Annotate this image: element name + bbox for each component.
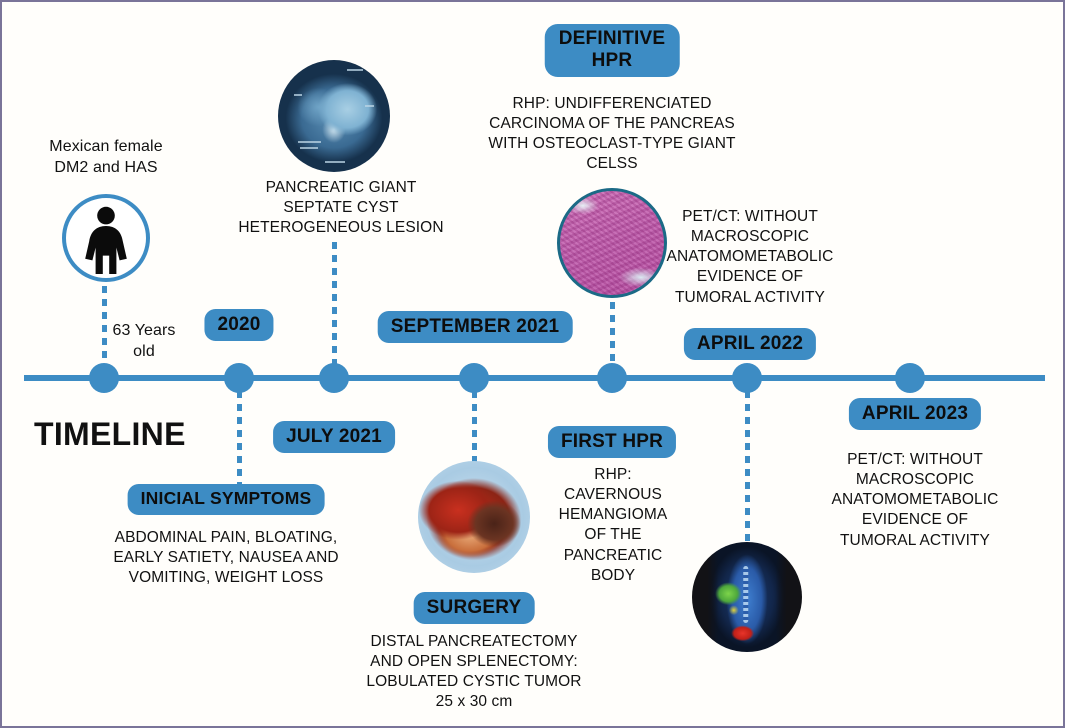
ct-scan-caption: PANCREATIC GIANT SEPTATE CYST HETEROGENE… <box>181 178 501 238</box>
badge-definitive-hpr[interactable]: DEFINITIVE HPR <box>545 24 680 77</box>
badge-surgery[interactable]: SURGERY <box>414 592 535 624</box>
connector-april-2022 <box>745 378 750 544</box>
timeline-diagram: TIMELINE Mexican female DM2 and HAS 63 Y… <box>0 0 1065 728</box>
badge-september-2021[interactable]: SEPTEMBER 2021 <box>378 311 573 343</box>
page-title: TIMELINE <box>34 416 186 453</box>
surgery-description: DISTAL PANCREATECTOMY AND OPEN SPLENECTO… <box>314 632 634 713</box>
april-2023-description: PET/CT: WITHOUT MACROSCOPIC ANATOMOMETAB… <box>790 450 1040 551</box>
definitive-hpr-description: RHP: UNDIFFERENCIATED CARCINOMA OF THE P… <box>447 94 777 175</box>
badge-2020[interactable]: 2020 <box>204 309 273 341</box>
patient-header: Mexican female DM2 and HAS <box>0 137 221 179</box>
badge-definitive-hpr-line1: DEFINITIVE <box>559 28 666 50</box>
female-person-icon <box>66 198 146 278</box>
connector-initial-symptoms <box>237 378 242 488</box>
connector-july-2021-top <box>332 242 337 378</box>
patient-age-label: 63 Years old <box>84 321 204 363</box>
badge-first-hpr[interactable]: FIRST HPR <box>548 426 676 458</box>
badge-definitive-hpr-line2: HPR <box>559 50 666 72</box>
surgical-specimen-image <box>418 461 530 573</box>
badge-july-2021[interactable]: JULY 2021 <box>273 421 395 453</box>
pet-ct-whole-body-image <box>692 542 802 652</box>
connector-surgery <box>472 378 477 464</box>
avatar <box>62 194 150 282</box>
abdominal-ct-scan-image <box>278 60 390 172</box>
connector-first-hpr-top <box>610 302 615 378</box>
pet-spine-detail <box>743 566 749 623</box>
first-hpr-description: RHP: CAVERNOUS HEMANGIOMA OF THE PANCREA… <box>533 465 693 586</box>
timeline-node-april-2023[interactable] <box>895 363 925 393</box>
badge-inicial-symptoms[interactable]: INICIAL SYMPTOMS <box>128 484 325 515</box>
badge-april-2023[interactable]: APRIL 2023 <box>849 398 981 430</box>
initial-symptoms-description: ABDOMINAL PAIN, BLOATING, EARLY SATIETY,… <box>76 528 376 588</box>
april-2022-description: PET/CT: WITHOUT MACROSCOPIC ANATOMOMETAB… <box>625 207 875 308</box>
badge-april-2022[interactable]: APRIL 2022 <box>684 328 816 360</box>
timeline-axis <box>24 375 1045 381</box>
